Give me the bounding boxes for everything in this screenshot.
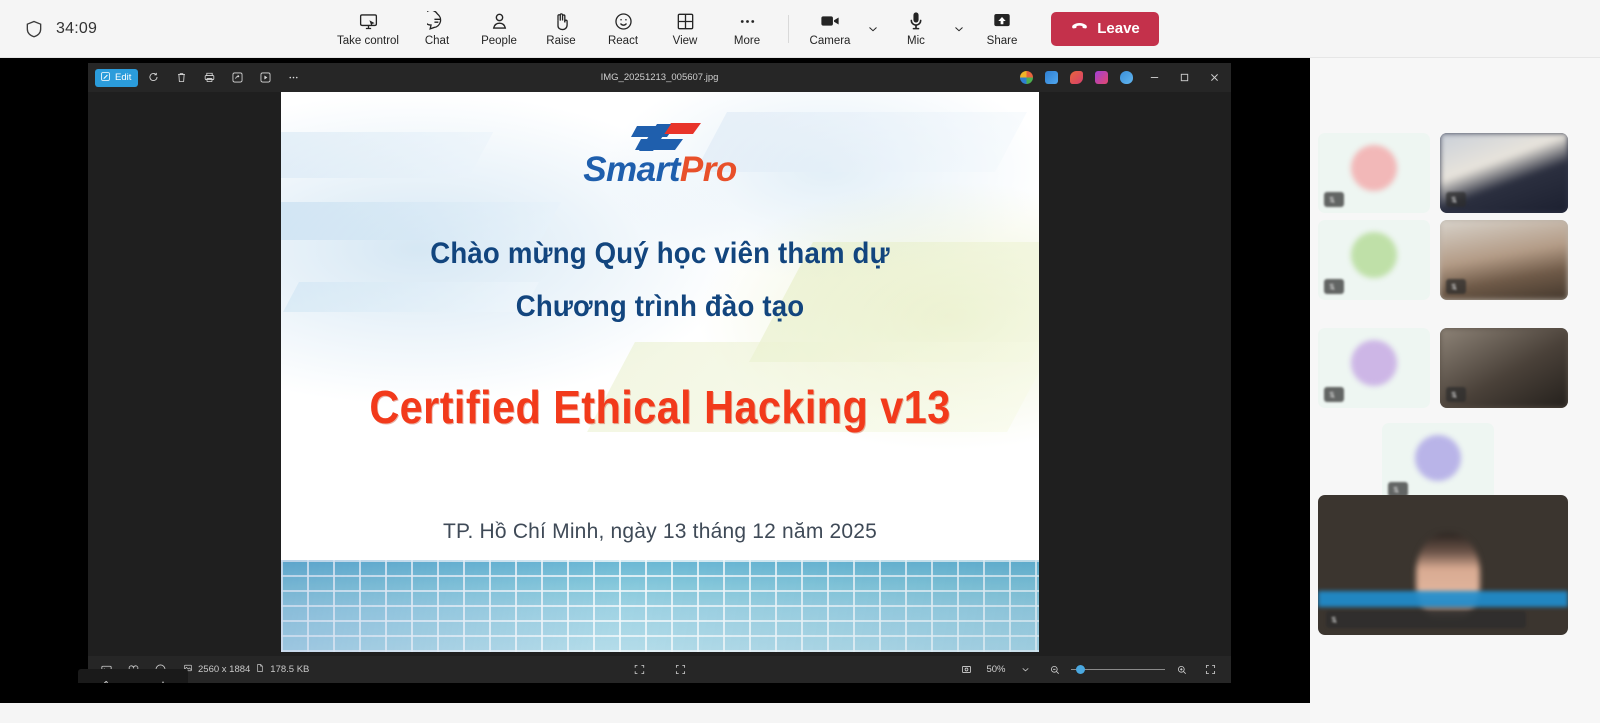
- meeting-controls: Take control Chat People: [330, 4, 1181, 54]
- logo-brand-part1: Smart: [583, 150, 680, 189]
- chevron-down-icon[interactable]: [1013, 659, 1038, 680]
- raise-hand-button[interactable]: Raise: [530, 4, 592, 54]
- ellipsis-icon: [737, 10, 758, 32]
- mic-options-chevron[interactable]: [947, 9, 971, 49]
- slide-floor-tint: [281, 560, 1039, 652]
- zoom-level-label[interactable]: 50%: [983, 664, 1009, 675]
- image-filesize: 178.5 KB: [270, 664, 309, 675]
- share-label: Share: [987, 35, 1018, 47]
- photos-viewer-window: Edit: [88, 63, 1231, 683]
- edit-pencil-icon: [100, 71, 111, 85]
- participant-name-badge: [1446, 279, 1466, 294]
- shield-icon: [24, 18, 44, 40]
- participant-name-badge: [1446, 192, 1466, 207]
- edit-button[interactable]: Edit: [95, 69, 138, 87]
- smartpro-logo: SmartPro: [281, 120, 1039, 190]
- logo-brand-part2: Pro: [680, 150, 737, 189]
- crop-icon[interactable]: [954, 659, 979, 680]
- magenta-swirl-icon[interactable]: [1064, 67, 1089, 89]
- share-screen-up-arrow-icon: [991, 10, 1013, 32]
- trash-icon[interactable]: [168, 67, 194, 89]
- participant-tile[interactable]: [1318, 328, 1430, 408]
- zoom-slider[interactable]: [1071, 664, 1165, 676]
- raised-hand-icon: [551, 10, 572, 32]
- participant-tile[interactable]: [1440, 220, 1568, 300]
- mic-group: Mic: [885, 4, 971, 54]
- slide-welcome-text: Chào mừng Quý học viên tham dự Chương tr…: [311, 228, 1008, 333]
- onedrive-cloud-icon[interactable]: [1114, 67, 1139, 89]
- smiley-face-icon: [613, 10, 634, 32]
- participant-tile[interactable]: [1318, 133, 1430, 213]
- video-lower-third: [1318, 591, 1568, 607]
- zoom-slider-thumb[interactable]: [1076, 665, 1085, 674]
- avatar: [1351, 232, 1397, 278]
- participant-name-badge: [1324, 387, 1344, 402]
- file-icon: [255, 663, 265, 676]
- avatar: [1351, 145, 1397, 191]
- participant-tile-active-speaker[interactable]: [1318, 495, 1568, 635]
- people-button[interactable]: People: [468, 4, 530, 54]
- view-button[interactable]: View: [654, 4, 716, 54]
- zoom-in-icon[interactable]: [1169, 659, 1194, 680]
- people-label: People: [481, 35, 517, 47]
- purple-app-icon[interactable]: [1089, 67, 1114, 89]
- more-button[interactable]: More: [716, 4, 778, 54]
- react-label: React: [608, 35, 638, 47]
- participant-name-badge: [1326, 611, 1526, 628]
- meeting-toolbar: 34:09 Take control Chat: [0, 0, 1600, 58]
- meeting-status-group: 34:09: [0, 18, 330, 40]
- participant-rail: [1310, 58, 1600, 723]
- camera-label: Camera: [810, 35, 851, 47]
- actual-size-icon[interactable]: [668, 659, 693, 680]
- camera-group: Camera: [799, 4, 885, 54]
- camera-button[interactable]: Camera: [799, 4, 861, 54]
- play-box-icon[interactable]: [252, 67, 278, 89]
- desktop-taskbar-sliver: [0, 683, 1310, 703]
- mic-off-icon: [1329, 391, 1335, 399]
- presentation-slide-image: SmartPro Chào mừng Quý học viên tham dự …: [281, 92, 1039, 652]
- avatar: [1415, 435, 1461, 481]
- person-icon: [489, 10, 510, 32]
- zoom-out-icon[interactable]: [1042, 659, 1067, 680]
- take-control-label: Take control: [337, 35, 399, 47]
- react-button[interactable]: React: [592, 4, 654, 54]
- camera-options-chevron[interactable]: [861, 9, 885, 49]
- mic-off-icon: [1451, 283, 1457, 291]
- maximize-icon[interactable]: [1169, 63, 1199, 92]
- mic-off-icon: [1451, 196, 1457, 204]
- minimize-icon[interactable]: [1139, 63, 1169, 92]
- participant-tile[interactable]: [1440, 133, 1568, 213]
- welcome-line-1: Chào mừng Quý học viên tham dự: [311, 228, 1008, 281]
- smartpro-arrow-logo-icon: [597, 120, 723, 154]
- blue-tile-icon[interactable]: [1039, 67, 1064, 89]
- raise-label: Raise: [546, 35, 575, 47]
- mic-label: Mic: [907, 35, 925, 47]
- viewer-titlebar: Edit: [88, 63, 1231, 92]
- shared-content-stage: Edit: [0, 58, 1310, 703]
- slide-course-title: Certified Ethical Hacking v13: [319, 380, 1001, 434]
- zoom-slider-track: [1071, 669, 1165, 671]
- image-metadata: 2560 x 1884 178.5 KB: [183, 663, 309, 676]
- share-arrow-icon[interactable]: [224, 67, 250, 89]
- mic-off-icon: [1329, 196, 1335, 204]
- participant-tile[interactable]: [1440, 328, 1568, 408]
- toolbar-divider: [788, 15, 789, 43]
- participant-name-badge: [1446, 387, 1466, 402]
- more-label: More: [734, 35, 760, 47]
- mic-off-icon: [1329, 283, 1335, 291]
- image-dimensions: 2560 x 1884: [198, 664, 250, 675]
- viewer-toolbar: Edit: [88, 67, 306, 89]
- smartpro-wordmark: SmartPro: [583, 150, 737, 190]
- chat-label: Chat: [425, 35, 449, 47]
- take-control-button[interactable]: Take control: [330, 4, 406, 54]
- ellipsis-icon[interactable]: [280, 67, 306, 89]
- screen-cursor-icon: [358, 10, 379, 32]
- leave-button[interactable]: Leave: [1051, 12, 1159, 46]
- fit-to-window-icon[interactable]: [627, 659, 652, 680]
- hang-up-phone-icon: [1070, 17, 1089, 40]
- participant-name-badge: [1324, 192, 1344, 207]
- chat-bubble-icon: [427, 10, 448, 32]
- participant-tile[interactable]: [1318, 220, 1430, 300]
- grid-layout-icon: [675, 10, 696, 32]
- avatar: [1351, 340, 1397, 386]
- viewer-window-right: [1014, 63, 1231, 92]
- office-chart-icon[interactable]: [1014, 67, 1039, 89]
- mic-off-icon: [1451, 391, 1457, 399]
- viewer-statusbar: 2560 x 1884 178.5 KB: [88, 656, 1231, 683]
- fullscreen-icon[interactable]: [1198, 659, 1223, 680]
- participant-tile[interactable]: [1382, 423, 1494, 503]
- close-icon[interactable]: [1199, 63, 1229, 92]
- viewer-zoom-controls: 50%: [954, 659, 1231, 680]
- chat-button[interactable]: Chat: [406, 4, 468, 54]
- mic-button[interactable]: Mic: [885, 4, 947, 54]
- share-button[interactable]: Share: [971, 4, 1033, 54]
- microphone-icon: [905, 10, 927, 32]
- mic-off-icon: [1331, 616, 1337, 624]
- image-canvas[interactable]: SmartPro Chào mừng Quý học viên tham dự …: [88, 92, 1231, 656]
- video-camera-icon: [819, 10, 841, 32]
- rotate-icon[interactable]: [140, 67, 166, 89]
- meeting-timer: 34:09: [56, 20, 97, 38]
- leave-label: Leave: [1097, 20, 1140, 37]
- welcome-line-2: Chương trình đào tạo: [311, 281, 1008, 334]
- slide-place-date: TP. Hồ Chí Minh, ngày 13 tháng 12 năm 20…: [281, 520, 1039, 544]
- mic-off-icon: [1393, 486, 1399, 494]
- printer-icon[interactable]: [196, 67, 222, 89]
- participant-name-badge: [1324, 279, 1344, 294]
- edit-label: Edit: [115, 72, 131, 83]
- view-label: View: [673, 35, 698, 47]
